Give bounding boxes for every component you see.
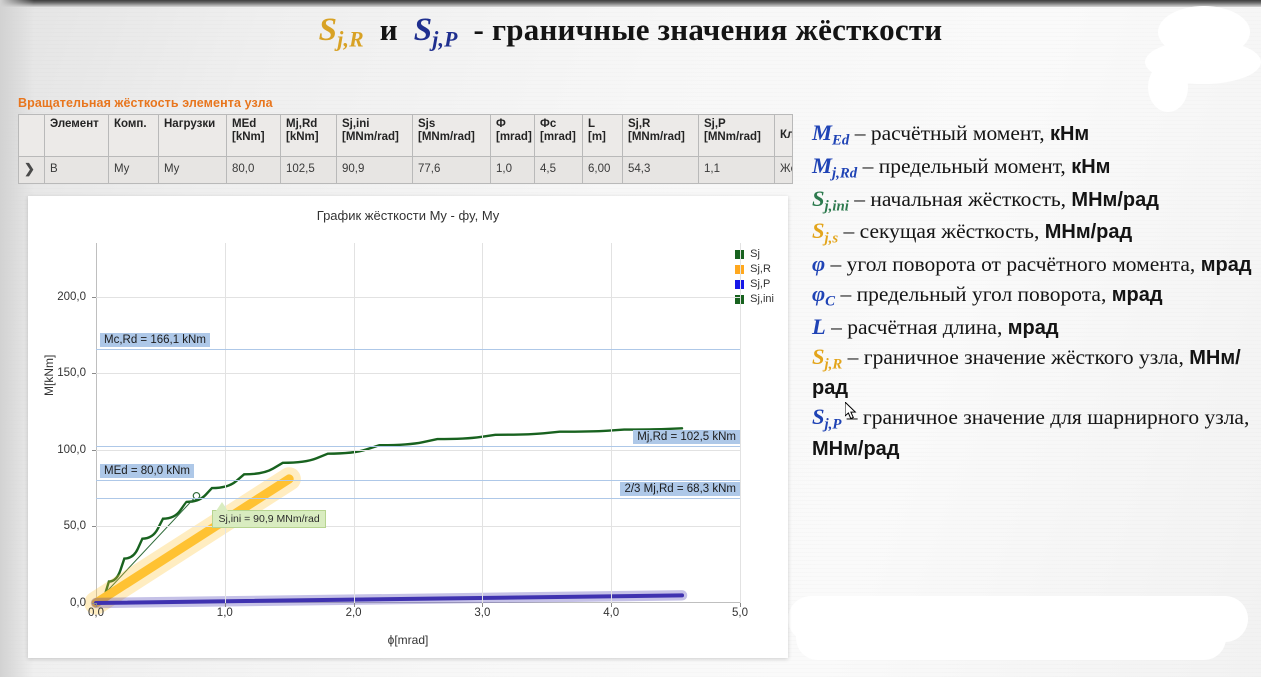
col-phic[interactable]: Фc[mrad]: [535, 115, 583, 157]
definition-text: – угол поворота от расчётного момента,: [825, 252, 1201, 276]
col-mjrd[interactable]: Mj,Rd[kNm]: [281, 115, 337, 157]
definition-unit: МНм/рад: [1045, 221, 1133, 243]
definition-item: Sj,P – граничное значение для шарнирного…: [812, 402, 1258, 463]
definition-symbol-subscript: j,s: [825, 231, 839, 247]
slide-title: Sj,R и Sj,P - граничные значения жёсткос…: [0, 12, 1261, 53]
chart-title: График жёсткости My - фy, My: [28, 208, 788, 223]
x-axis-tick-label: 0,0: [88, 607, 104, 619]
y-axis-tick-mark: [92, 297, 96, 298]
table-row[interactable]: ❯ B My My 80,0 102,5 90,9 77,6 1,0 4,5 6…: [19, 157, 793, 184]
title-conjunction: и: [372, 12, 406, 47]
chart-x-axis-label: ϕ[mrad]: [28, 633, 788, 647]
gridline-vertical: [354, 243, 355, 603]
table-header-row: Элемент Комп. Нагрузки MEd[kNm] Mj,Rd[kN…: [19, 115, 793, 157]
x-axis-tick-label: 4,0: [603, 607, 619, 619]
y-axis-tick-mark: [92, 526, 96, 527]
definitions-panel: MEd – расчётный момент, кНмMj,Rd – преде…: [812, 118, 1258, 463]
col-phi[interactable]: Ф[mrad]: [491, 115, 535, 157]
reference-line-label: MEd = 80,0 kNm: [100, 464, 194, 478]
x-axis-tick-mark: [354, 603, 355, 607]
definition-unit: МНм/рад: [812, 438, 900, 460]
reference-line-label: Mj,Rd = 102,5 kNm: [633, 430, 740, 444]
legend-label-sjr: Sj,R: [750, 263, 771, 275]
x-axis-tick-mark: [611, 603, 612, 607]
y-axis-tick-label: 50,0: [64, 520, 86, 532]
col-sjr[interactable]: Sj,R[MNm/rad]: [623, 115, 699, 157]
y-axis-tick-label: 200,0: [57, 291, 86, 303]
definition-text: – граничное значение жёсткого узла,: [842, 345, 1189, 369]
cell-element: B: [45, 157, 109, 184]
x-axis-tick-mark: [482, 603, 483, 607]
definition-symbol: φC: [812, 281, 835, 306]
chart-y-axis-label: M[kNm]: [42, 355, 56, 396]
cell-med: 80,0: [227, 157, 281, 184]
definition-text: – расчётный момент,: [849, 121, 1050, 145]
definition-symbol: Sj,ini: [812, 186, 849, 211]
definition-unit: мрад: [1008, 317, 1059, 339]
definition-symbol: MEd: [812, 120, 849, 145]
gridline-horizontal: [96, 450, 740, 451]
legend-label-sjini: Sj,ini: [750, 293, 774, 305]
legend-label-sj: Sj: [750, 248, 760, 260]
definition-text: – предельный угол поворота,: [835, 282, 1112, 306]
title-symbol-sjr: Sj,R: [319, 12, 364, 48]
definition-unit: кНм: [1050, 123, 1089, 145]
definition-symbol: L: [812, 314, 826, 339]
x-axis-tick-mark: [96, 603, 97, 607]
x-axis-tick-mark: [740, 603, 741, 607]
definition-unit: МНм/рад: [1071, 189, 1159, 211]
eraser-blob-bottom-right-2: [796, 616, 1226, 660]
cell-phi: 1,0: [491, 157, 535, 184]
reference-line: [96, 498, 740, 499]
col-med[interactable]: MEd[kNm]: [227, 115, 281, 157]
row-expand-button[interactable]: ❯: [19, 157, 45, 184]
x-axis-tick-label: 3,0: [474, 607, 490, 619]
x-axis-tick-label: 5,0: [732, 607, 748, 619]
stiffness-table-block: Вращательная жёсткость элемента узла Эле…: [18, 96, 793, 184]
title-tail: - граничные значения жёсткости: [466, 12, 943, 47]
reference-line: [96, 446, 740, 447]
definition-item: φC – предельный угол поворота, мрад: [812, 279, 1258, 312]
legend-label-sjp: Sj,P: [750, 278, 770, 290]
definition-unit: мрад: [1112, 284, 1163, 306]
reference-line: [96, 349, 740, 350]
col-sjs[interactable]: Sjs[MNm/rad]: [413, 115, 491, 157]
gridline-vertical: [611, 243, 612, 603]
gridline-vertical: [482, 243, 483, 603]
stiffness-chart-panel: График жёсткости My - фy, My M[kNm] ϕ[mr…: [28, 196, 788, 658]
y-axis-tick-label: 100,0: [57, 444, 86, 456]
definition-item: Mj,Rd – предельный момент, кНм: [812, 151, 1258, 184]
col-component[interactable]: Комп.: [109, 115, 159, 157]
definition-symbol-subscript: C: [825, 293, 835, 309]
gridline-vertical: [740, 243, 741, 603]
table-caption: Вращательная жёсткость элемента узла: [18, 96, 793, 110]
cell-sjr: 54,3: [623, 157, 699, 184]
col-sjp[interactable]: Sj,P[MNm/rad]: [699, 115, 775, 157]
cell-loads: My: [159, 157, 227, 184]
definition-item: Sj,s – секущая жёсткость, МНм/рад: [812, 216, 1258, 249]
cell-component: My: [109, 157, 159, 184]
definition-text: – предельный момент,: [857, 154, 1071, 178]
cell-class: Жёсткий: [775, 157, 793, 184]
title-symbol-sjp: Sj,P: [414, 12, 458, 48]
definition-symbol-subscript: Ed: [832, 132, 849, 148]
eraser-blob-top-right-3: [1148, 62, 1188, 112]
definition-item: Sj,ini – начальная жёсткость, МНм/рад: [812, 184, 1258, 217]
x-axis-tick-label: 2,0: [346, 607, 362, 619]
cell-mjrd: 102,5: [281, 157, 337, 184]
definition-item: φ – угол поворота от расчётного момента,…: [812, 249, 1258, 279]
cell-length: 6,00: [583, 157, 623, 184]
y-axis-tick-mark: [92, 450, 96, 451]
definition-unit: кНм: [1071, 156, 1110, 178]
chart-tooltip-tail: [216, 502, 228, 511]
definition-text: – расчётная длина,: [826, 315, 1008, 339]
col-expand: [19, 115, 45, 157]
mouse-cursor-icon: [845, 402, 858, 421]
y-axis-tick-label: 150,0: [57, 367, 86, 379]
definition-item: Sj,R – граничное значение жёсткого узла,…: [812, 342, 1258, 403]
definition-item: MEd – расчётный момент, кНм: [812, 118, 1258, 151]
definition-symbol: Sj,R: [812, 344, 842, 369]
definition-symbol-subscript: j,ini: [825, 198, 849, 214]
definition-symbol: Sj,P: [812, 404, 841, 429]
chart-plot-area: 0,050,0100,0150,0200,00,01,02,03,04,05,0…: [96, 243, 740, 603]
definition-symbol-subscript: j,P: [825, 417, 842, 433]
cell-sjini: 90,9: [337, 157, 413, 184]
gridline-horizontal: [96, 373, 740, 374]
gridline-vertical: [225, 243, 226, 603]
chart-tooltip: Sj,ini = 90,9 MNm/rad: [212, 510, 325, 528]
y-axis-tick-label: 0,0: [70, 597, 86, 609]
cell-sjs: 77,6: [413, 157, 491, 184]
definition-text: – секущая жёсткость,: [838, 219, 1045, 243]
series-line-sj: [96, 428, 682, 603]
col-sjini[interactable]: Sj,ini[MNm/rad]: [337, 115, 413, 157]
gridline-horizontal: [96, 297, 740, 298]
col-length[interactable]: L[m]: [583, 115, 623, 157]
reference-line-label: Mc,Rd = 166,1 kNm: [100, 333, 210, 347]
reference-line-label: 2/3 Mj,Rd = 68,3 kNm: [620, 482, 740, 496]
top-edge-shadow: [0, 0, 1261, 7]
col-element[interactable]: Элемент: [45, 115, 109, 157]
definition-symbol: Sj,s: [812, 218, 838, 243]
definition-symbol-subscript: j,R: [825, 356, 843, 372]
definition-symbol: φ: [812, 251, 825, 276]
stiffness-table: Элемент Комп. Нагрузки MEd[kNm] Mj,Rd[kN…: [18, 114, 793, 184]
col-class[interactable]: Класс: [775, 115, 793, 157]
definition-symbol-subscript: j,Rd: [832, 165, 857, 181]
cell-phic: 4,5: [535, 157, 583, 184]
reference-line: [96, 480, 740, 481]
col-loads[interactable]: Нагрузки: [159, 115, 227, 157]
definition-unit: мрад: [1201, 254, 1252, 276]
x-axis-tick-mark: [225, 603, 226, 607]
x-axis-tick-label: 1,0: [217, 607, 233, 619]
definition-text: – граничное значение для шарнирного узла…: [841, 405, 1249, 429]
cell-sjp: 1,1: [699, 157, 775, 184]
y-axis-tick-mark: [92, 373, 96, 374]
definition-symbol: Mj,Rd: [812, 153, 857, 178]
definition-item: L – расчётная длина, мрад: [812, 312, 1258, 342]
gridline-horizontal: [96, 526, 740, 527]
definition-text: – начальная жёсткость,: [849, 187, 1072, 211]
